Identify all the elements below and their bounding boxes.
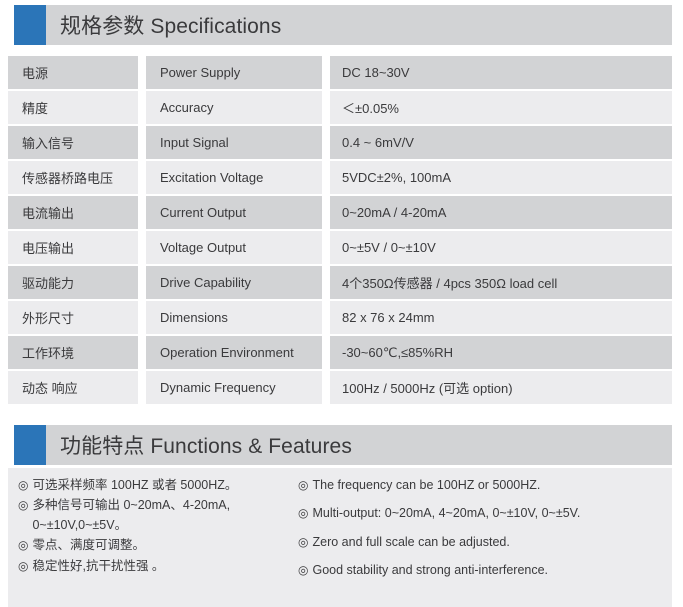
spec-label-cn: 精度	[8, 91, 138, 124]
table-row: 动态 响应Dynamic Frequency100Hz / 5000Hz (可选…	[8, 371, 672, 404]
feature-text-cn: 稳定性好,抗干扰性强 。	[32, 557, 294, 576]
features-section-header: 功能特点 Functions & Features	[14, 425, 672, 465]
spec-label-en: Voltage Output	[146, 231, 322, 264]
specifications-table: 电源Power SupplyDC 18~30V精度Accuracy＜±0.05%…	[8, 56, 672, 406]
bullet-circle-icon: ◎	[18, 496, 28, 515]
spec-label-cn: 外形尺寸	[8, 301, 138, 334]
specifications-title: 规格参数 Specifications	[60, 10, 281, 40]
feature-text-en: Good stability and strong anti-interfere…	[312, 561, 672, 580]
list-item: ◎The frequency can be 100HZ or 5000HZ.	[298, 476, 672, 495]
spec-label-cn: 驱动能力	[8, 266, 138, 299]
bullet-circle-icon: ◎	[298, 476, 308, 495]
spec-label-en: Power Supply	[146, 56, 322, 89]
feature-text-en: Multi-output: 0~20mA, 4~20mA, 0~±10V, 0~…	[312, 504, 672, 523]
spec-value: 0~±5V / 0~±10V	[330, 231, 672, 264]
bullet-circle-icon: ◎	[298, 533, 308, 552]
list-item: ◎Multi-output: 0~20mA, 4~20mA, 0~±10V, 0…	[298, 504, 672, 523]
feature-text-cn: 可选采样频率 100HZ 或者 5000HZ。	[32, 476, 294, 495]
table-row: 工作环境Operation Environment-30~60℃,≤85%RH	[8, 336, 672, 369]
table-row: 输入信号Input Signal0.4 ~ 6mV/V	[8, 126, 672, 159]
list-item: ◎零点、满度可调整。	[18, 536, 294, 555]
spec-value: 0.4 ~ 6mV/V	[330, 126, 672, 159]
features-title-bar: 功能特点 Functions & Features	[46, 425, 672, 465]
spec-label-cn: 传感器桥路电压	[8, 161, 138, 194]
spec-label-en: Excitation Voltage	[146, 161, 322, 194]
feature-text-en: Zero and full scale can be adjusted.	[312, 533, 672, 552]
table-row: 外形尺寸Dimensions82 x 76 x 24mm	[8, 301, 672, 334]
bullet-circle-icon: ◎	[18, 557, 28, 576]
spec-label-cn: 工作环境	[8, 336, 138, 369]
table-row: 电源Power SupplyDC 18~30V	[8, 56, 672, 89]
spec-value: DC 18~30V	[330, 56, 672, 89]
bullet-circle-icon: ◎	[298, 504, 308, 523]
spec-label-en: Dynamic Frequency	[146, 371, 322, 404]
spec-label-cn: 动态 响应	[8, 371, 138, 404]
spec-label-cn: 电源	[8, 56, 138, 89]
table-row: 精度Accuracy＜±0.05%	[8, 91, 672, 124]
spec-value: 0~20mA / 4-20mA	[330, 196, 672, 229]
spec-value: 5VDC±2%, 100mA	[330, 161, 672, 194]
bullet-circle-icon: ◎	[18, 536, 28, 555]
list-item: ◎多种信号可输出 0~20mA、4-20mA, 0~±10V,0~±5V。	[18, 496, 294, 535]
list-item: ◎Good stability and strong anti-interfer…	[298, 561, 672, 580]
spec-value: 4个350Ω传感器 / 4pcs 350Ω load cell	[330, 266, 672, 299]
accent-block-icon	[14, 425, 46, 465]
list-item: ◎Zero and full scale can be adjusted.	[298, 533, 672, 552]
spec-label-en: Dimensions	[146, 301, 322, 334]
list-item: ◎可选采样频率 100HZ 或者 5000HZ。	[18, 476, 294, 495]
features-title: 功能特点 Functions & Features	[60, 430, 352, 460]
spec-label-en: Operation Environment	[146, 336, 322, 369]
feature-text-cn: 多种信号可输出 0~20mA、4-20mA, 0~±10V,0~±5V。	[32, 496, 294, 535]
features-list-english: ◎The frequency can be 100HZ or 5000HZ.◎M…	[294, 476, 672, 607]
spec-label-en: Accuracy	[146, 91, 322, 124]
specifications-title-bar: 规格参数 Specifications	[46, 5, 672, 45]
features-list-chinese: ◎可选采样频率 100HZ 或者 5000HZ。◎多种信号可输出 0~20mA、…	[8, 476, 294, 607]
spec-label-cn: 输入信号	[8, 126, 138, 159]
accent-block-icon	[14, 5, 46, 45]
feature-text-cn: 零点、满度可调整。	[32, 536, 294, 555]
list-item: ◎稳定性好,抗干扰性强 。	[18, 557, 294, 576]
table-row: 电压输出Voltage Output0~±5V / 0~±10V	[8, 231, 672, 264]
specifications-section-header: 规格参数 Specifications	[14, 5, 672, 45]
spec-label-cn: 电压输出	[8, 231, 138, 264]
table-row: 传感器桥路电压Excitation Voltage5VDC±2%, 100mA	[8, 161, 672, 194]
spec-label-cn: 电流输出	[8, 196, 138, 229]
spec-value: 82 x 76 x 24mm	[330, 301, 672, 334]
feature-text-en: The frequency can be 100HZ or 5000HZ.	[312, 476, 672, 495]
spec-label-en: Drive Capability	[146, 266, 322, 299]
spec-value: ＜±0.05%	[330, 91, 672, 124]
spec-label-en: Input Signal	[146, 126, 322, 159]
table-row: 驱动能力Drive Capability4个350Ω传感器 / 4pcs 350…	[8, 266, 672, 299]
spec-value: 100Hz / 5000Hz (可选 option)	[330, 371, 672, 404]
table-row: 电流输出Current Output0~20mA / 4-20mA	[8, 196, 672, 229]
bullet-circle-icon: ◎	[18, 476, 28, 495]
spec-value: -30~60℃,≤85%RH	[330, 336, 672, 369]
spec-label-en: Current Output	[146, 196, 322, 229]
bullet-circle-icon: ◎	[298, 561, 308, 580]
features-panel: ◎可选采样频率 100HZ 或者 5000HZ。◎多种信号可输出 0~20mA、…	[8, 468, 672, 607]
